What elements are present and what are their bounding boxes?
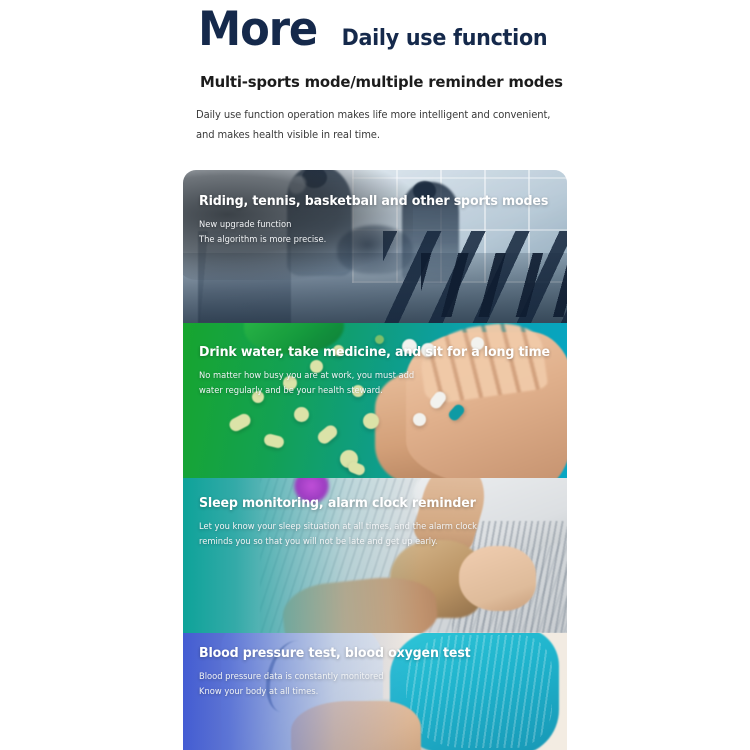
panel-subtext: No matter how busy you are at work, you … <box>199 369 550 399</box>
panel-line-2: reminds you so that you will not be late… <box>199 535 477 550</box>
description-line-1: Daily use function operation makes life … <box>196 105 550 125</box>
panel-text-block: Sleep monitoring, alarm clock reminder L… <box>199 496 486 550</box>
panel-line-2: The algorithm is more precise. <box>199 233 548 248</box>
panel-title: Drink water, take medicine, and sit for … <box>199 345 550 360</box>
panel-line-1: Blood pressure data is constantly monito… <box>199 670 471 685</box>
panel-text-block: Blood pressure test, blood oxygen test B… <box>199 646 479 700</box>
panel-text-block: Drink water, take medicine, and sit for … <box>199 345 561 399</box>
pill <box>227 412 253 434</box>
pill <box>316 423 340 446</box>
pill <box>447 402 467 422</box>
panel-title: Blood pressure test, blood oxygen test <box>199 646 471 661</box>
pill <box>363 413 379 429</box>
sleeping-face <box>459 546 536 611</box>
title-main-word: More <box>198 6 317 53</box>
description-line-2: and makes health visible in real time. <box>196 125 550 145</box>
panel-line-2: water regularly and be your health stewa… <box>199 384 550 399</box>
pill <box>413 413 426 426</box>
panel-line-1: New upgrade function <box>199 218 548 233</box>
title-subtitle: Daily use function <box>342 28 548 50</box>
feature-panel-sleep-monitoring[interactable]: Sleep monitoring, alarm clock reminder L… <box>183 478 567 633</box>
feature-panel-drink-water-medicine[interactable]: Drink water, take medicine, and sit for … <box>183 323 567 478</box>
panel-line-1: Let you know your sleep situation at all… <box>199 520 477 535</box>
section-description: Daily use function operation makes life … <box>196 105 550 145</box>
product-feature-page: More Daily use function Multi-sports mod… <box>0 0 750 750</box>
panel-line-2: Know your body at all times. <box>199 685 471 700</box>
panel-line-1: No matter how busy you are at work, you … <box>199 369 550 384</box>
treadmill-rails-secondary <box>421 253 567 317</box>
page-title: More Daily use function <box>193 6 554 53</box>
pill <box>262 432 284 448</box>
feature-panel-sports-modes[interactable]: Riding, tennis, basketball and other spo… <box>183 170 567 323</box>
panel-title: Riding, tennis, basketball and other spo… <box>199 194 548 209</box>
feature-panel-blood-pressure[interactable]: Blood pressure test, blood oxygen test B… <box>183 633 567 750</box>
pill <box>375 335 384 344</box>
feature-panel-stack: Riding, tennis, basketball and other spo… <box>183 170 567 750</box>
panel-subtext: Blood pressure data is constantly monito… <box>199 670 471 700</box>
pill <box>294 407 309 422</box>
panel-subtext: New upgrade function The algorithm is mo… <box>199 218 548 248</box>
panel-text-block: Riding, tennis, basketball and other spo… <box>199 194 559 248</box>
panel-subtext: Let you know your sleep situation at all… <box>199 520 477 550</box>
panel-title: Sleep monitoring, alarm clock reminder <box>199 496 477 511</box>
section-subheading: Multi-sports mode/multiple reminder mode… <box>200 73 563 91</box>
pill <box>347 460 367 477</box>
